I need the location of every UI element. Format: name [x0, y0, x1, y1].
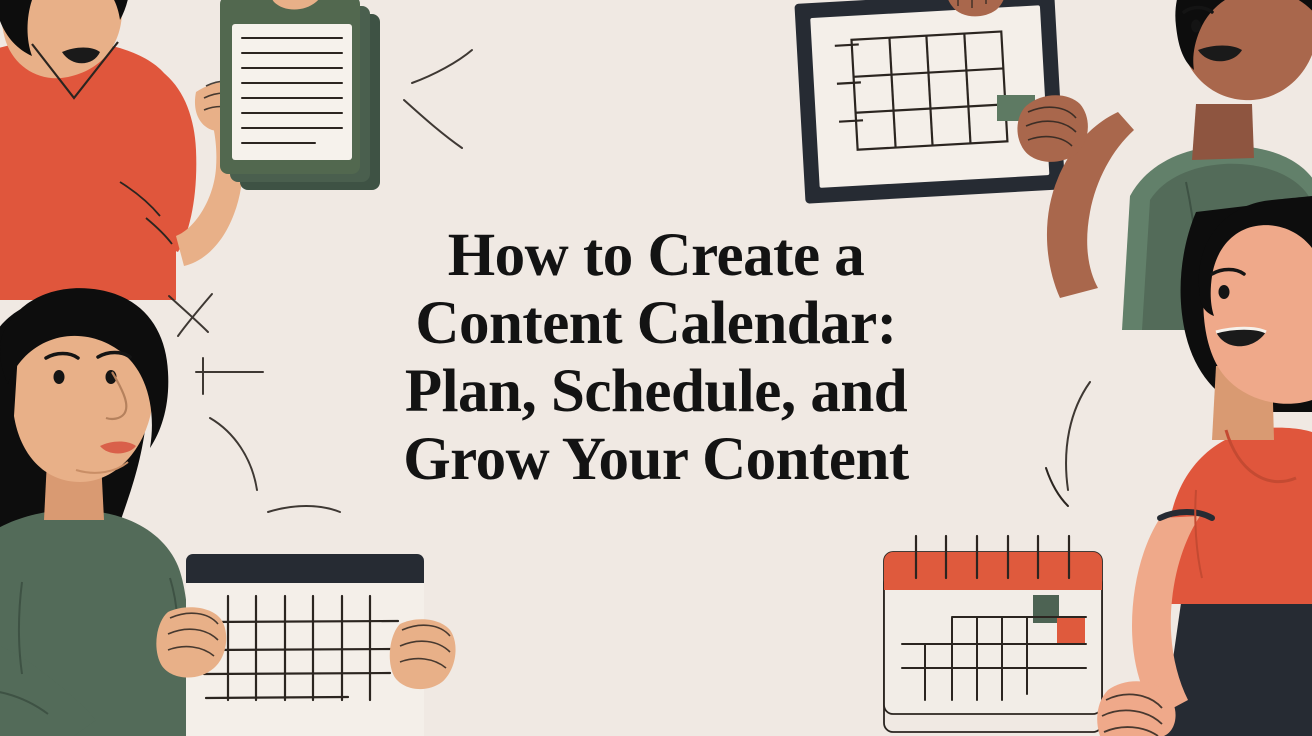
green-event-cell	[1033, 595, 1059, 623]
green-clipboard	[220, 0, 380, 190]
hero-banner: How to Create a Content Calendar: Plan, …	[0, 0, 1312, 736]
red-event-cell	[1057, 618, 1085, 644]
spiral-wall-calendar	[884, 536, 1102, 732]
framed-grid-whiteboard	[794, 0, 1065, 204]
illustration-canvas	[0, 0, 1312, 736]
handheld-calendar-board	[156, 554, 455, 736]
